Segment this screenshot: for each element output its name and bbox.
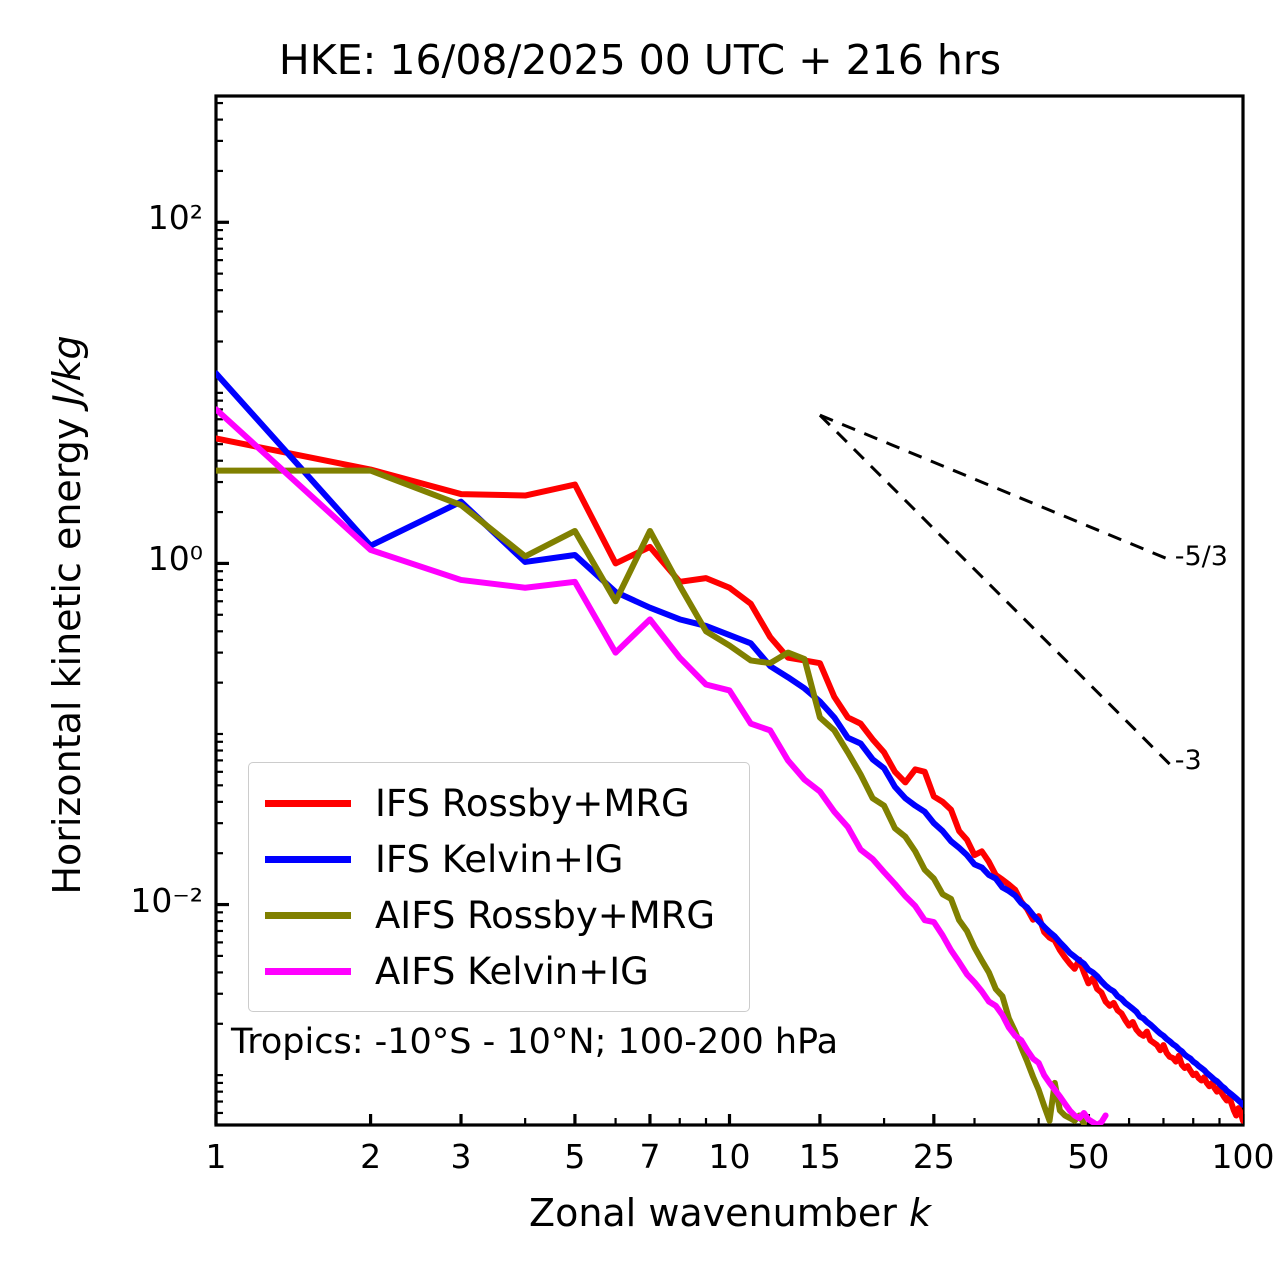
- x-axis-label-text: Zonal wavenumber: [529, 1191, 909, 1235]
- data-series: [216, 373, 1243, 1125]
- legend-color-swatch: [265, 912, 351, 919]
- x-tick-label: 1: [156, 1137, 276, 1176]
- x-axis-label-symbol: k: [909, 1191, 931, 1235]
- y-tick-label: 10²: [148, 198, 203, 237]
- legend-color-swatch: [265, 856, 351, 863]
- y-axis-label-unit: J/kg: [45, 335, 89, 405]
- plot-area: [0, 0, 1280, 1288]
- legend-item-aifs-kelvin-ig[interactable]: AIFS Kelvin+IG: [265, 943, 733, 999]
- legend-item-aifs-rossby-mrg[interactable]: AIFS Rossby+MRG: [265, 887, 733, 943]
- legend-item-ifs-rossby-mrg[interactable]: IFS Rossby+MRG: [265, 775, 733, 831]
- region-annotation: Tropics: -10°S - 10°N; 100-200 hPa: [231, 1022, 838, 1062]
- legend-color-swatch: [265, 968, 351, 975]
- reference-line--3: [820, 415, 1170, 764]
- y-axis-label: Horizontal kinetic energy J/kg: [45, 265, 89, 965]
- legend-color-swatch: [265, 800, 351, 807]
- legend-item-label: IFS Kelvin+IG: [375, 838, 623, 881]
- reference-lines: [820, 415, 1170, 764]
- x-axis-label: Zonal wavenumber k: [216, 1191, 1244, 1235]
- x-tick-label: 50: [1028, 1137, 1148, 1176]
- legend-item-label: AIFS Kelvin+IG: [375, 950, 649, 993]
- legend-item-label: IFS Rossby+MRG: [375, 782, 690, 825]
- y-tick-label: 10⁰: [148, 539, 203, 578]
- x-tick-label: 3: [401, 1137, 521, 1176]
- x-tick-label: 25: [874, 1137, 994, 1176]
- legend-item-label: AIFS Rossby+MRG: [375, 894, 715, 937]
- legend-item-ifs-kelvin-ig[interactable]: IFS Kelvin+IG: [265, 831, 733, 887]
- reference-line--5-3: [820, 415, 1170, 560]
- legend-box: IFS Rossby+MRGIFS Kelvin+IGAIFS Rossby+M…: [248, 762, 750, 1012]
- y-axis-label-text: Horizontal kinetic energy: [45, 406, 89, 895]
- y-tick-label: 10⁻²: [130, 881, 203, 920]
- x-tick-label: 100: [1183, 1137, 1280, 1176]
- slope-label: -3: [1175, 745, 1202, 776]
- x-tick-label: 15: [760, 1137, 880, 1176]
- figure-canvas: HKE: 16/08/2025 00 UTC + 216 hrs Horizon…: [0, 0, 1280, 1288]
- slope-label: -5/3: [1175, 541, 1228, 572]
